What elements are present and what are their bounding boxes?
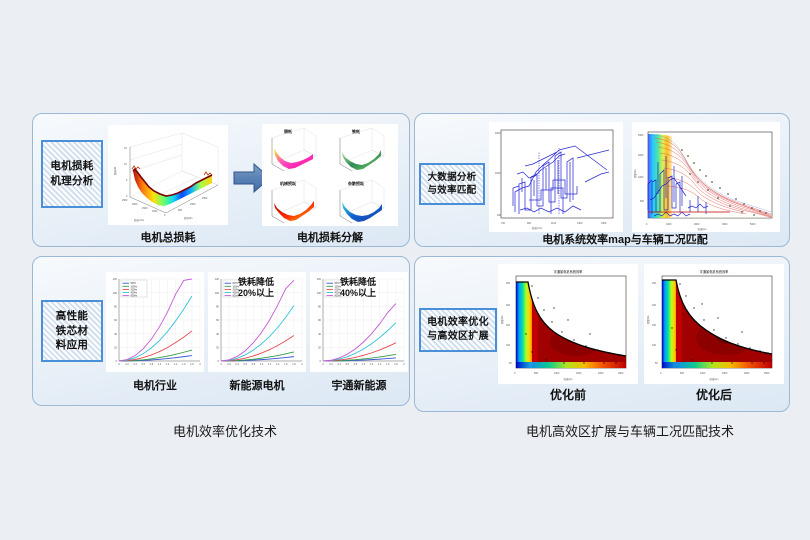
svg-text:5000: 5000 xyxy=(750,223,756,226)
callout-line: 40%以上 xyxy=(340,288,376,299)
chip-line: 铁芯材 xyxy=(56,324,88,339)
svg-text:转速rpm: 转速rpm xyxy=(564,377,573,381)
svg-text:900: 900 xyxy=(527,222,532,225)
svg-text:500: 500 xyxy=(534,372,539,375)
svg-text:80: 80 xyxy=(216,305,219,309)
series-line xyxy=(323,323,396,361)
callout-line: 20%以上 xyxy=(238,288,274,299)
svg-text:100: 100 xyxy=(317,291,322,295)
svg-text:20: 20 xyxy=(216,346,219,350)
subplots-2x2-svg: 铜耗 铁耗 xyxy=(262,124,398,226)
svg-text:1000: 1000 xyxy=(700,372,706,375)
svg-text:1.6: 1.6 xyxy=(182,363,186,366)
svg-text:转速rpm: 转速rpm xyxy=(710,377,719,381)
svg-text:1000: 1000 xyxy=(495,172,501,175)
svg-text:转速r/min: 转速r/min xyxy=(134,218,145,222)
chip-line: 机理分析 xyxy=(50,174,93,189)
svg-text:200Hz: 200Hz xyxy=(131,289,138,291)
svg-text:200: 200 xyxy=(497,214,502,217)
callout-line: 铁耗降低 xyxy=(340,277,376,288)
surface3d-svg: 15 10 5 0 2500 2000 1500 1000 0 500 1500… xyxy=(108,125,228,225)
svg-text:转矩Nm: 转矩Nm xyxy=(646,315,650,324)
callout-iron-loss-20: 铁耗降低 20%以上 xyxy=(238,277,274,300)
svg-text:2000: 2000 xyxy=(598,372,604,375)
subplot-stray-loss: 杂散损耗 xyxy=(340,180,384,223)
svg-text:2000: 2000 xyxy=(694,223,700,226)
svg-text:2: 2 xyxy=(199,363,201,366)
svg-text:100Hz: 100Hz xyxy=(131,286,138,288)
svg-text:1.2: 1.2 xyxy=(166,363,170,366)
section-title-right: 电机高效区扩展与车辆工况匹配技术 xyxy=(470,421,790,440)
caption-system-efficiency-map: 电机系统效率map与车辆工况匹配 xyxy=(470,231,780,247)
svg-text:2000: 2000 xyxy=(132,203,138,206)
svg-text:1.0: 1.0 xyxy=(362,363,366,366)
caption-loss-decomposition: 电机损耗分解 xyxy=(262,229,398,245)
svg-text:120: 120 xyxy=(113,277,118,281)
svg-text:转速r/min: 转速r/min xyxy=(532,226,543,230)
svg-text:1.0: 1.0 xyxy=(260,363,264,366)
svg-text:50: 50 xyxy=(655,362,658,365)
chip-core-material-application[interactable]: 高性能 铁芯材 料应用 xyxy=(41,300,103,362)
svg-text:0.2: 0.2 xyxy=(227,363,231,366)
svg-text:0: 0 xyxy=(218,359,220,363)
heatmap-after-svg: 宇通某电机系统效率 xyxy=(644,264,784,384)
svg-text:400Hz: 400Hz xyxy=(131,293,138,295)
svg-text:0: 0 xyxy=(118,363,120,366)
series-line xyxy=(221,306,294,361)
svg-text:40: 40 xyxy=(114,332,117,336)
svg-text:1500: 1500 xyxy=(722,372,728,375)
svg-text:100: 100 xyxy=(113,291,118,295)
slide-canvas: 电机损耗 机理分析 xyxy=(0,0,810,540)
svg-text:0: 0 xyxy=(164,214,166,217)
svg-text:0: 0 xyxy=(322,363,324,366)
svg-text:800Hz: 800Hz xyxy=(131,296,138,298)
chip-line: 高性能 xyxy=(56,309,88,324)
svg-text:1500: 1500 xyxy=(142,207,148,210)
svg-text:50Hz: 50Hz xyxy=(131,283,137,285)
figure-total-loss-surface: 15 10 5 0 2500 2000 1500 1000 0 500 1500… xyxy=(108,125,228,225)
svg-text:150: 150 xyxy=(506,324,511,327)
svg-text:损耗kW: 损耗kW xyxy=(113,166,117,175)
svg-text:40: 40 xyxy=(318,332,321,336)
svg-text:转矩Nm: 转矩Nm xyxy=(500,315,504,324)
chip-line: 电机损耗 xyxy=(50,159,93,174)
chip-line: 与高效区扩展 xyxy=(427,330,489,344)
svg-text:80: 80 xyxy=(114,305,117,309)
caption-total-loss: 电机总损耗 xyxy=(108,229,228,245)
heatmap-before-svg: 宇通某电机系统效率 250 xyxy=(498,264,638,384)
svg-text:200: 200 xyxy=(652,304,657,307)
figure-efficiency-contour-map: 2500 2000 1000 500 0 1000 2000 3000 5000… xyxy=(632,122,780,232)
svg-text:3000: 3000 xyxy=(722,223,728,226)
svg-text:0: 0 xyxy=(116,359,118,363)
svg-text:250: 250 xyxy=(506,282,511,285)
svg-text:2500: 2500 xyxy=(764,372,770,375)
svg-text:2: 2 xyxy=(301,363,303,366)
svg-text:0.4: 0.4 xyxy=(236,363,240,366)
svg-text:0.8: 0.8 xyxy=(252,363,256,366)
svg-text:60: 60 xyxy=(114,318,117,322)
svg-text:100: 100 xyxy=(506,344,511,347)
svg-text:2500: 2500 xyxy=(638,134,644,137)
svg-text:0: 0 xyxy=(646,223,648,226)
svg-text:2500: 2500 xyxy=(202,197,208,200)
svg-text:1.4: 1.4 xyxy=(174,363,178,366)
svg-text:0.6: 0.6 xyxy=(142,363,146,366)
svg-text:150: 150 xyxy=(652,324,657,327)
svg-text:1500: 1500 xyxy=(190,203,196,206)
svg-text:1500: 1500 xyxy=(576,372,582,375)
svg-text:0.4: 0.4 xyxy=(338,363,342,366)
surface-mesh xyxy=(133,169,212,206)
figure-efficiency-before: 宇通某电机系统效率 250 xyxy=(498,264,638,384)
chip-motor-loss-mechanism[interactable]: 电机损耗 机理分析 xyxy=(41,140,103,208)
chip-bigdata-efficiency-matching[interactable]: 大数据分析 与效率匹配 xyxy=(419,163,485,205)
scatter-blue-svg: 1600 1000 200 700 900 1100 1300 1500 转速r… xyxy=(489,122,623,232)
svg-text:1000: 1000 xyxy=(152,210,158,213)
caption-core-loss-yutong: 宇通新能源 xyxy=(310,377,408,393)
svg-text:1.4: 1.4 xyxy=(276,363,280,366)
svg-text:40: 40 xyxy=(216,332,219,336)
svg-text:15: 15 xyxy=(124,147,127,150)
svg-text:1.6: 1.6 xyxy=(284,363,288,366)
svg-text:2000: 2000 xyxy=(744,372,750,375)
chart-legend: 50Hz100Hz200Hz400Hz800Hz xyxy=(121,280,147,298)
svg-text:0: 0 xyxy=(660,372,662,375)
subplot-iron-loss: 铁耗 xyxy=(340,128,384,171)
svg-text:60: 60 xyxy=(318,318,321,322)
svg-text:0.4: 0.4 xyxy=(134,363,138,366)
chip-line: 电机效率优化 xyxy=(427,316,489,330)
svg-text:1500: 1500 xyxy=(601,222,607,225)
heatmap-title: 宇通某电机系统效率 xyxy=(554,269,583,274)
svg-text:1.0: 1.0 xyxy=(158,363,162,366)
callout-iron-loss-40: 铁耗降低 40%以上 xyxy=(340,277,376,300)
svg-text:1000: 1000 xyxy=(638,176,644,179)
figure-loss-decomposition: 铜耗 铁耗 xyxy=(262,124,398,226)
svg-text:200: 200 xyxy=(506,304,511,307)
svg-text:1100: 1100 xyxy=(551,222,557,225)
svg-text:0: 0 xyxy=(320,359,322,363)
svg-text:1.2: 1.2 xyxy=(268,363,272,366)
callout-line: 铁耗降低 xyxy=(238,277,274,288)
caption-core-loss-nev: 新能源电机 xyxy=(208,377,306,393)
series-line xyxy=(221,335,294,361)
figure-efficiency-after: 宇通某电机系统效率 xyxy=(644,264,784,384)
svg-text:1000: 1000 xyxy=(554,372,560,375)
subplot-copper-loss: 铜耗 xyxy=(272,128,316,171)
svg-text:50: 50 xyxy=(509,362,512,365)
svg-text:1.8: 1.8 xyxy=(292,363,296,366)
svg-text:0.6: 0.6 xyxy=(244,363,248,366)
svg-text:转矩Nm: 转矩Nm xyxy=(633,169,637,178)
subplot-mechanical-loss: 机械损耗 xyxy=(272,180,316,223)
chip-efficiency-zone-expansion[interactable]: 电机效率优化 与高效区扩展 xyxy=(419,308,497,352)
series-line xyxy=(119,331,192,361)
svg-text:0.2: 0.2 xyxy=(125,363,129,366)
chip-line: 料应用 xyxy=(56,338,88,353)
heatmap-title: 宇通某电机系统效率 xyxy=(700,269,729,274)
svg-text:2: 2 xyxy=(403,363,405,366)
svg-text:120: 120 xyxy=(317,277,322,281)
svg-text:1.2: 1.2 xyxy=(370,363,374,366)
caption-core-loss-industry: 电机行业 xyxy=(106,377,204,393)
svg-text:60: 60 xyxy=(216,318,219,322)
svg-text:1000: 1000 xyxy=(666,223,672,226)
svg-text:1600: 1600 xyxy=(495,132,501,135)
svg-text:0.8: 0.8 xyxy=(150,363,154,366)
svg-text:10: 10 xyxy=(124,163,127,166)
svg-text:1.8: 1.8 xyxy=(190,363,194,366)
svg-text:100: 100 xyxy=(215,291,220,295)
svg-text:120: 120 xyxy=(215,277,220,281)
svg-text:0.2: 0.2 xyxy=(329,363,333,366)
contour-map-svg: 2500 2000 1000 500 0 1000 2000 3000 5000… xyxy=(632,122,780,232)
svg-text:1.6: 1.6 xyxy=(386,363,390,366)
svg-text:80: 80 xyxy=(318,305,321,309)
series-line xyxy=(119,296,192,361)
svg-text:500: 500 xyxy=(680,372,685,375)
svg-text:2500: 2500 xyxy=(122,199,128,202)
figure-operating-point-scatter: 1600 1000 200 700 900 1100 1300 1500 转速r… xyxy=(489,122,623,232)
section-title-left: 电机效率优化技术 xyxy=(100,421,350,440)
svg-text:100: 100 xyxy=(652,344,657,347)
svg-text:2000: 2000 xyxy=(638,154,644,157)
caption-before-optimization: 优化前 xyxy=(498,386,638,403)
svg-text:1300: 1300 xyxy=(577,222,583,225)
chip-line: 大数据分析 xyxy=(427,171,476,184)
svg-text:500: 500 xyxy=(178,209,183,212)
svg-text:2500: 2500 xyxy=(618,372,624,375)
svg-text:1.4: 1.4 xyxy=(378,363,382,366)
svg-text:0: 0 xyxy=(514,372,516,375)
svg-text:0: 0 xyxy=(126,195,128,198)
svg-text:0.6: 0.6 xyxy=(346,363,350,366)
svg-text:0: 0 xyxy=(220,363,222,366)
svg-text:500: 500 xyxy=(640,200,645,203)
svg-text:20: 20 xyxy=(318,346,321,350)
svg-text:1.8: 1.8 xyxy=(394,363,398,366)
svg-text:0.8: 0.8 xyxy=(354,363,358,366)
svg-text:250: 250 xyxy=(652,282,657,285)
caption-after-optimization: 优化后 xyxy=(644,386,784,403)
svg-text:20: 20 xyxy=(114,346,117,350)
chip-line: 与效率匹配 xyxy=(427,184,476,197)
svg-text:转矩Nm: 转矩Nm xyxy=(184,216,193,220)
core-loss-line-chart: 02040608010012000.20.40.60.81.01.21.41.6… xyxy=(106,272,204,372)
svg-text:5: 5 xyxy=(126,179,128,182)
svg-text:700: 700 xyxy=(501,222,506,225)
